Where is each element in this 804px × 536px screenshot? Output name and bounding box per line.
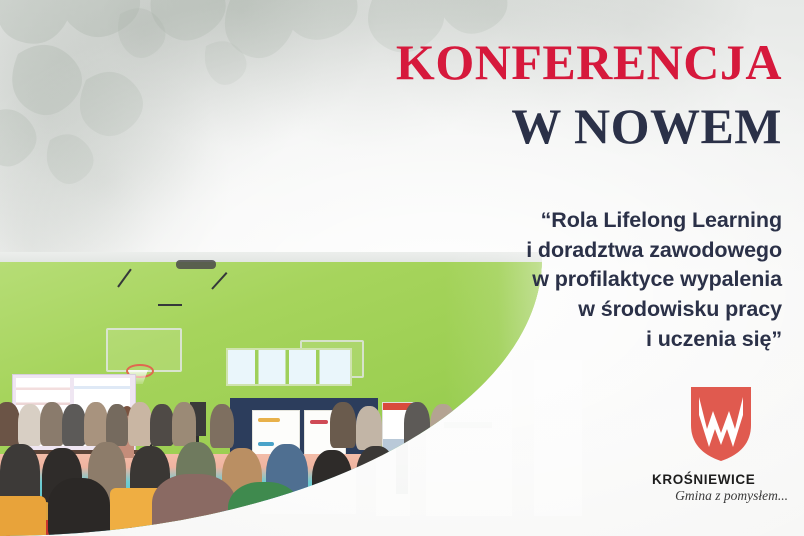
photo-audience-person xyxy=(150,404,174,446)
photo-audience-person xyxy=(106,404,128,446)
photo-audience-person xyxy=(40,402,64,446)
headline-line-2: W NOWEM xyxy=(396,101,782,151)
krosniewice-logo: KROŚNIEWICE Gmina z pomysłem... xyxy=(648,385,794,504)
photo-foreground-chair xyxy=(0,496,46,536)
photo-flipchart-marking xyxy=(310,420,328,424)
photo-audience-person xyxy=(128,402,152,446)
photo-flipchart-marking xyxy=(258,442,274,446)
photo-audience-person xyxy=(62,404,86,446)
photo-audience-person xyxy=(84,402,108,446)
conference-poster: KONFERENCJA W NOWEM “Rola Lifelong Learn… xyxy=(0,0,804,536)
coat-of-arms-shield-icon xyxy=(689,385,753,463)
quote-line-4: w środowisku pracy xyxy=(452,295,782,325)
logo-municipality-name: KROŚNIEWICE xyxy=(648,472,794,487)
quote-line-5: i uczenia się” xyxy=(452,325,782,355)
photo-audience-person xyxy=(210,404,234,448)
photo-audience-person xyxy=(18,404,42,446)
poster-headline: KONFERENCJA W NOWEM xyxy=(396,37,782,151)
photo-ceiling-lamp-icon xyxy=(176,260,216,269)
photo-foreground-person xyxy=(48,478,110,536)
photo-audience-person xyxy=(172,402,196,446)
photo-wall-bar-icon xyxy=(158,304,182,306)
headline-line-1: KONFERENCJA xyxy=(396,37,782,87)
conference-topic-quote: “Rola Lifelong Learning i doradztwa zawo… xyxy=(452,206,782,354)
quote-line-3: w profilaktyce wypalenia xyxy=(452,265,782,295)
quote-line-2: i doradztwa zawodowego xyxy=(452,236,782,266)
photo-audience-person xyxy=(356,406,382,450)
photo-flipchart-marking xyxy=(258,418,280,422)
photo-windows xyxy=(226,348,352,386)
logo-tagline: Gmina z pomysłem... xyxy=(648,488,794,504)
photo-audience-person xyxy=(330,402,356,448)
quote-line-1: “Rola Lifelong Learning xyxy=(452,206,782,236)
photo-audience-person xyxy=(0,402,20,446)
